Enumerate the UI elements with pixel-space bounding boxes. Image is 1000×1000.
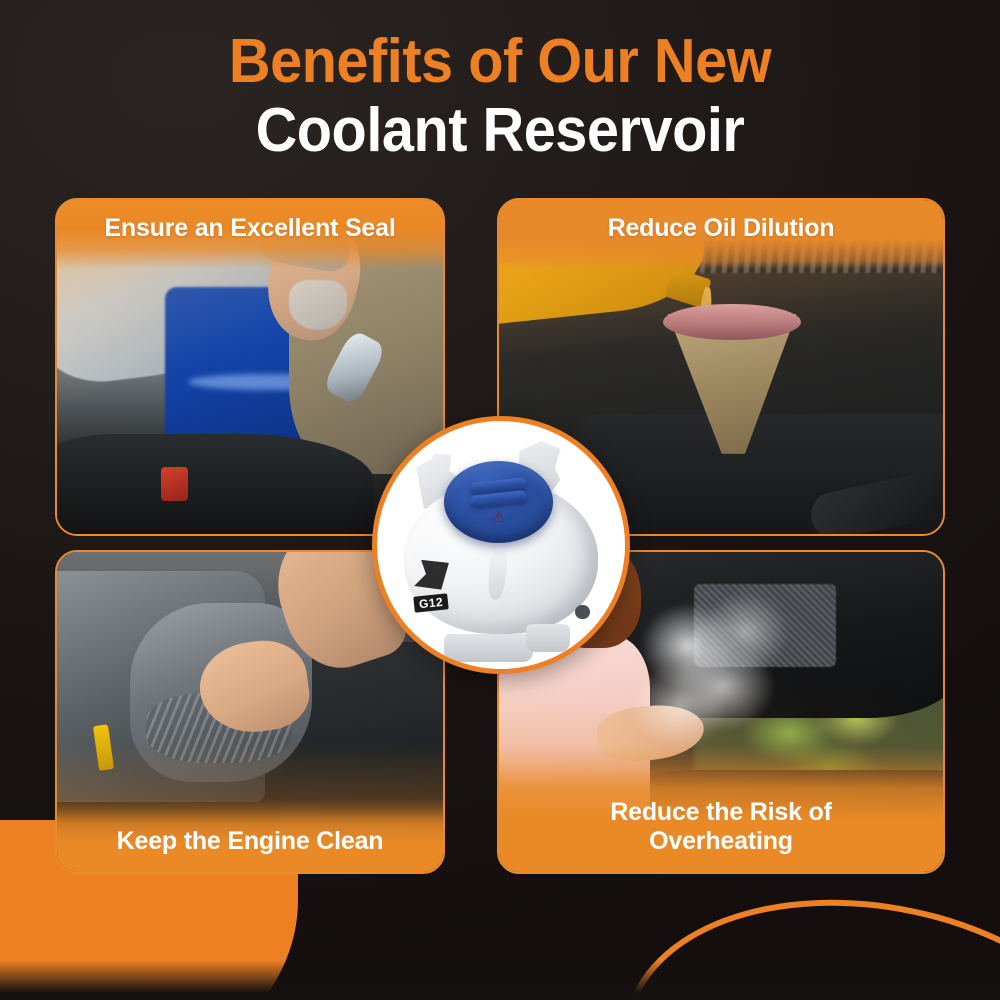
page-title: Benefits of Our New Coolant Reservoir	[0, 30, 1000, 162]
card-label-line-2: Overheating	[515, 827, 927, 856]
tank-mount-hole	[575, 605, 590, 620]
card-label: Reduce Oil Dilution	[515, 214, 927, 243]
card-footer-bar: Reduce the Risk of Overheating	[499, 746, 943, 872]
product-spotlight-circle[interactable]: G12 ⚠	[372, 416, 630, 674]
reservoir-cap-blue: ⚠	[444, 461, 553, 543]
card-footer-bar: Keep the Engine Clean	[57, 799, 443, 872]
title-line-2: Coolant Reservoir	[35, 99, 965, 162]
title-line-1: Benefits of Our New	[35, 30, 965, 93]
cap-warning-pressure-icon: ⚠	[488, 510, 510, 528]
tank-foot-left	[444, 634, 533, 661]
card-header-bar: Ensure an Excellent Seal	[57, 200, 443, 269]
tank-foot-right	[526, 624, 571, 651]
card-label: Ensure an Excellent Seal	[73, 214, 427, 243]
tank-coolant-spec-label: G12	[413, 593, 449, 612]
infographic-canvas: Benefits of Our New Coolant Reservoir En…	[0, 0, 1000, 1000]
card-label-line-1: Reduce the Risk of	[515, 798, 927, 827]
card-header-bar: Reduce Oil Dilution	[499, 200, 943, 269]
coolant-reservoir-product-image: G12 ⚠	[377, 421, 625, 669]
card-label: Keep the Engine Clean	[73, 827, 427, 856]
